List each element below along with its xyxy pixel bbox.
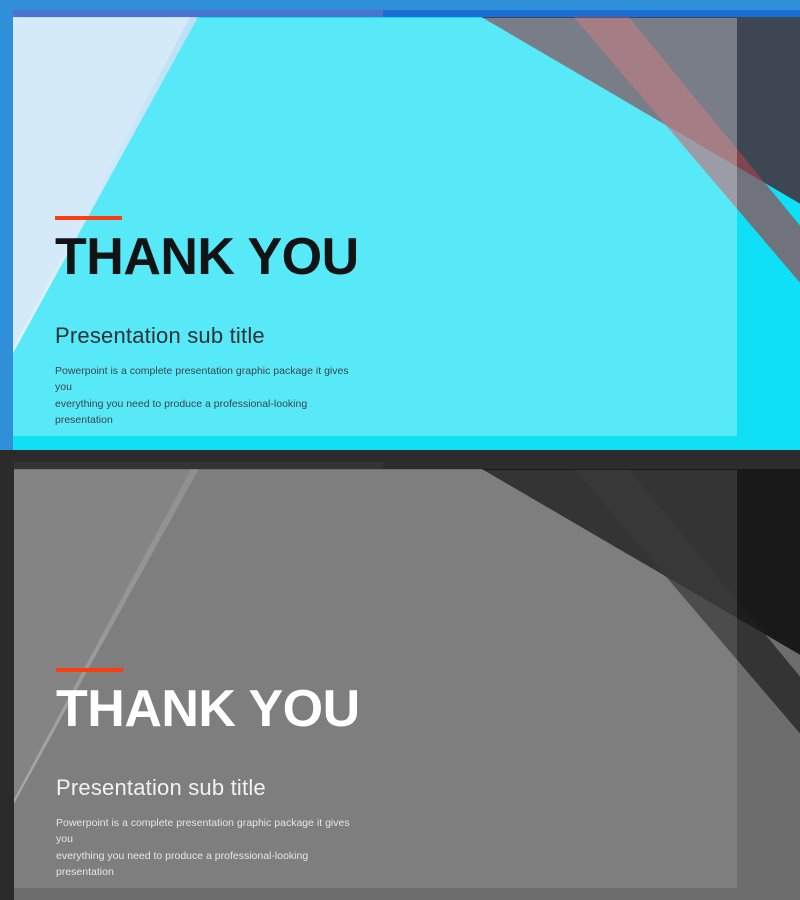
page-subtitle: Presentation sub title (56, 775, 476, 801)
body-line-2: everything you need to produce a profess… (55, 396, 365, 429)
slide-content-grayscale: THANK YOU Presentation sub title Powerpo… (56, 668, 476, 880)
page-subtitle: Presentation sub title (55, 323, 475, 349)
body-line-1: Powerpoint is a complete presentation gr… (56, 815, 366, 848)
body-line-2: everything you need to produce a profess… (56, 848, 366, 881)
top-indigo-stripe (14, 462, 383, 469)
slide-thumbnail-grayscale[interactable]: THANK YOU Presentation sub title Powerpo… (0, 450, 800, 900)
slide-canvas-grayscale: THANK YOU Presentation sub title Powerpo… (14, 462, 800, 900)
slide-canvas-color: THANK YOU Presentation sub title Powerpo… (13, 10, 800, 450)
top-indigo-stripe (13, 10, 383, 17)
accent-bar (56, 668, 123, 672)
body-line-1: Powerpoint is a complete presentation gr… (55, 363, 365, 396)
slide-deck: THANK YOU Presentation sub title Powerpo… (0, 0, 800, 900)
page-title: THANK YOU (56, 683, 476, 735)
accent-bar (55, 216, 122, 220)
slide-thumbnail-color[interactable]: THANK YOU Presentation sub title Powerpo… (0, 0, 800, 450)
page-title: THANK YOU (55, 231, 475, 283)
slide-content-color: THANK YOU Presentation sub title Powerpo… (55, 216, 475, 428)
